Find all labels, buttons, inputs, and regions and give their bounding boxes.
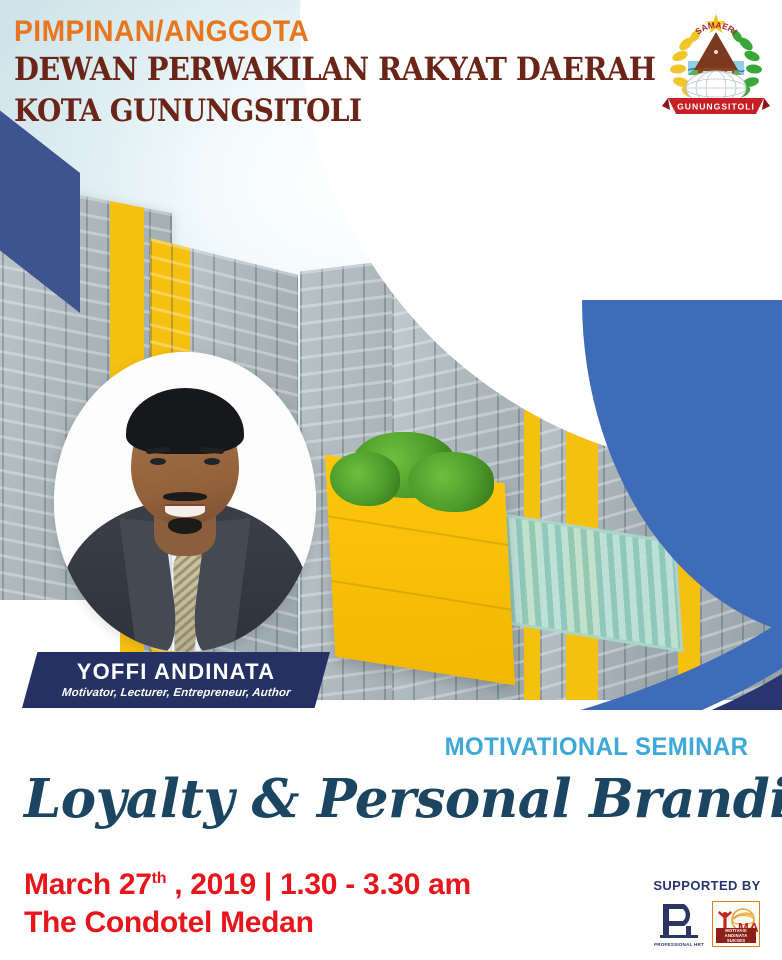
supported-by-section: SUPPORTED BY PROFESSIONAL HRT: [642, 878, 772, 947]
speaker-name-banner: YOFFI ANDINATA Motivator, Lecturer, Entr…: [22, 652, 330, 708]
event-date-time: March 27th , 2019 | 1.30 - 3.30 am: [24, 868, 471, 902]
event-venue: The Condotel Medan: [24, 906, 314, 940]
goatee: [168, 518, 202, 534]
sponsor-logo-professional: PROFESSIONAL HRT: [654, 899, 704, 947]
event-date-prefix: March 27: [24, 868, 152, 901]
emblem-ribbon-text: GUNUNGSITOLI: [677, 102, 755, 112]
event-date-suffix: , 2019 | 1.30 - 3.30 am: [166, 868, 471, 901]
speaker-role: Motivator, Lecturer, Entrepreneur, Autho…: [61, 687, 291, 699]
speaker-name: YOFFI ANDINATA: [77, 661, 275, 683]
header-line-city: KOTA GUNUNGSITOLI: [14, 91, 655, 132]
mouth: [165, 504, 205, 517]
supported-by-label: SUPPORTED BY: [642, 878, 772, 893]
sponsor-mas-caption: MOTIVASI ANDINATA SUKSES: [716, 928, 756, 943]
city-emblem: SAMAERI: [658, 6, 774, 122]
poster-header: PIMPINAN/ANGGOTA DEWAN PERWAKILAN RAKYAT…: [14, 16, 727, 132]
eye-right: [204, 458, 220, 465]
professional-p-icon: [654, 899, 704, 941]
seminar-poster: PIMPINAN/ANGGOTA DEWAN PERWAKILAN RAKYAT…: [0, 0, 782, 960]
header-line-institution: DEWAN PERWAKILAN RAKYAT DAERAH: [14, 48, 655, 90]
header-line-organization-role: PIMPINAN/ANGGOTA: [14, 16, 684, 48]
event-date-ordinal: th: [152, 870, 167, 887]
sponsor-professional-caption: PROFESSIONAL HRT: [654, 942, 704, 947]
sponsor-logo-row: PROFESSIONAL HRT: [642, 899, 772, 947]
seminar-kicker: MOTIVATIONAL SEMINAR: [444, 733, 748, 762]
eye-left: [150, 458, 166, 465]
mustache: [163, 492, 207, 501]
mas-logo-box: MAS MOTIVASI ANDINATA SUKSES: [712, 901, 760, 947]
seminar-title: Loyalty & Personal Branding: [24, 768, 764, 830]
sponsor-logo-mas: MAS MOTIVASI ANDINATA SUKSES: [712, 901, 760, 947]
speaker-portrait: [54, 352, 316, 652]
